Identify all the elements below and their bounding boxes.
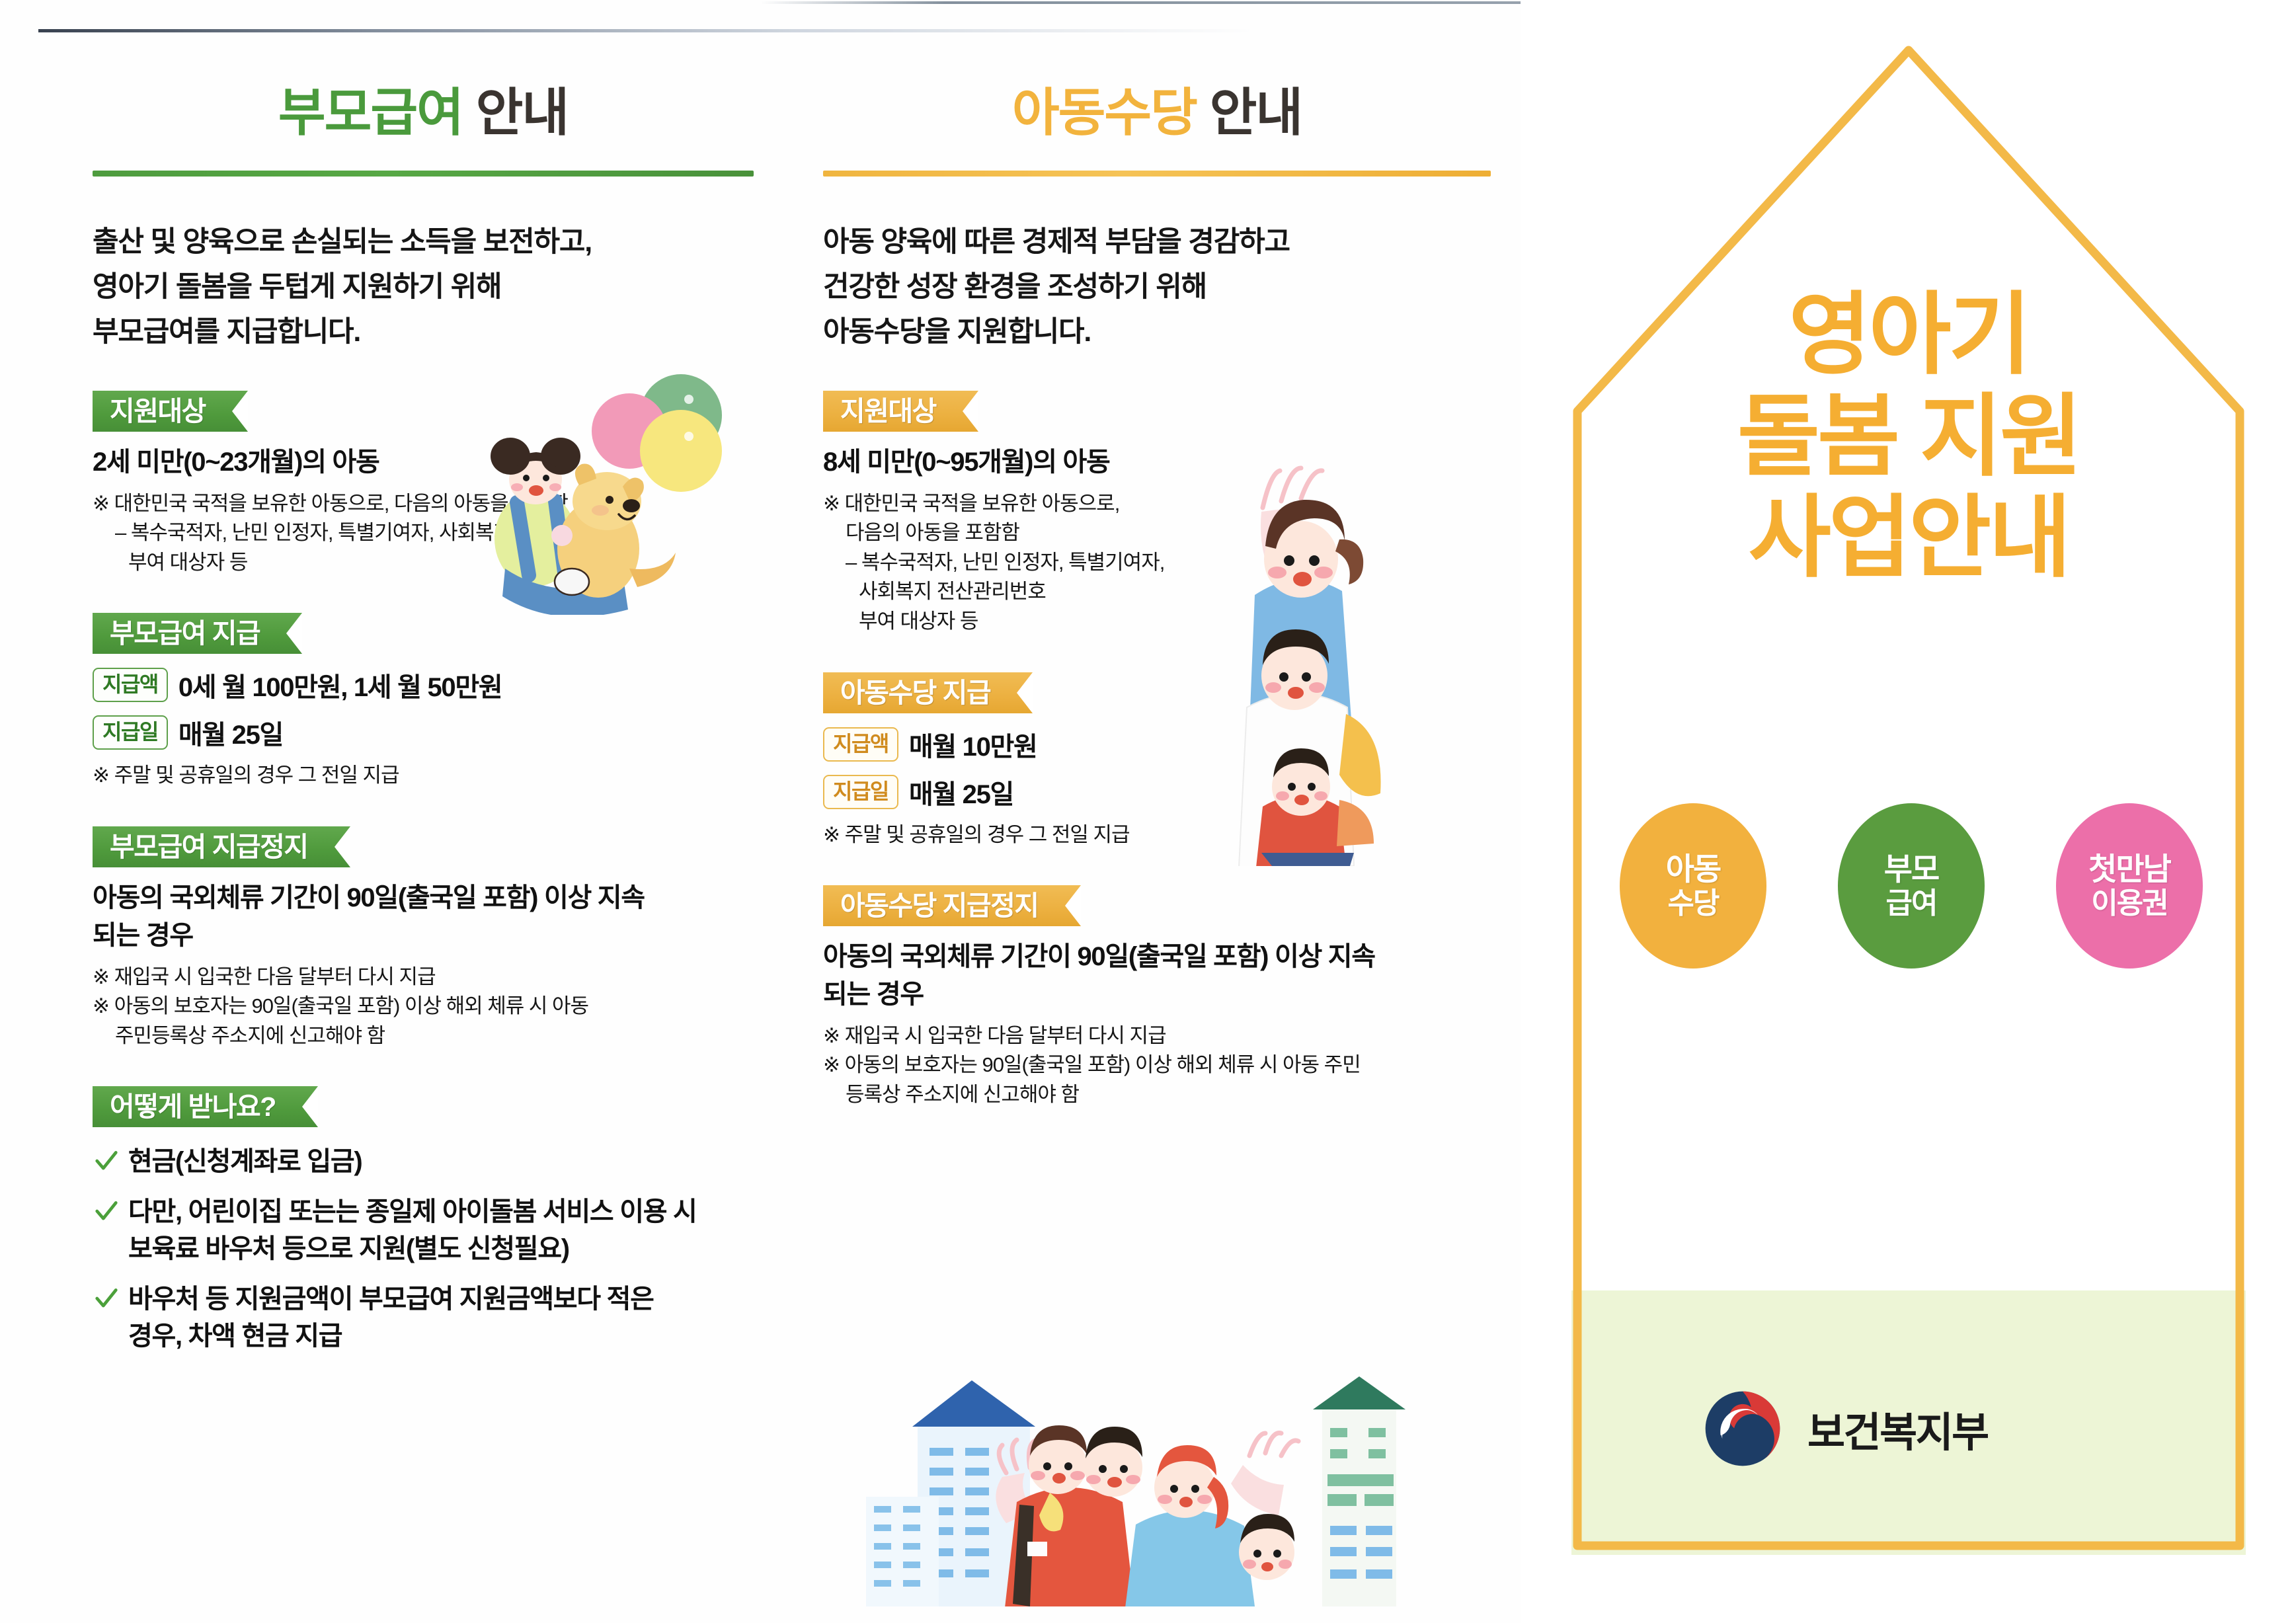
program-badge-row: 아동 수당 부모 급여 첫만남 이용권 <box>1584 803 2238 969</box>
check-icon <box>94 1148 119 1173</box>
mid-intro-line-1: 아동 양육에 따른 경제적 부담을 경감하고 <box>823 220 1491 265</box>
list-item: 현금(신청계좌로 입금) <box>93 1143 754 1180</box>
left-suspension-lead-line-2: 되는 경우 <box>93 917 754 955</box>
badge-parent-benefit: 부모 급여 <box>1838 803 1985 969</box>
left-pay-row-date: 지급일 매월 25일 <box>93 713 754 752</box>
left-banner-suspension: 부모급여 지급정지 <box>93 826 350 867</box>
left-intro-paragraph: 출산 및 양육으로 손실되는 소득을 보전하고, 영아기 돌봄을 두텁게 지원하… <box>93 220 754 355</box>
left-title-divider <box>93 171 754 177</box>
left-column-title: 부모급여 안내 <box>93 86 754 140</box>
ministry-name: 보건복지부 <box>1807 1399 1988 1458</box>
left-section-suspension: 부모급여 지급정지 아동의 국외체류 기간이 90일(출국일 포함) 이상 지속… <box>93 791 754 1050</box>
left-pay-row-amount: 지급액 0세 월 100만원, 1세 월 50만원 <box>93 666 754 704</box>
mid-value-amount: 매월 10만원 <box>909 725 1037 764</box>
mid-section-suspension: 아동수당 지급정지 아동의 국외체류 기간이 90일(출국일 포함) 이상 지속… <box>823 850 1491 1109</box>
left-intro-line-1: 출산 및 양육으로 손실되는 소득을 보전하고, <box>93 220 754 265</box>
check-line: 보육료 바우처 등으로 지원(별도 신청필요) <box>128 1230 754 1267</box>
mid-banner-suspension: 아동수당 지급정지 <box>823 885 1081 926</box>
check-icon <box>94 1286 119 1311</box>
left-suspension-note-2: ※ 아동의 보호자는 90일(출국일 포함) 이상 해외 체류 시 아동 <box>93 992 754 1021</box>
badge-line-1: 첫만남 <box>2088 852 2170 887</box>
mid-suspension-lead-line-2: 되는 경우 <box>823 976 1491 1013</box>
cover-title: 영아기 돌봄 지원 사업안내 <box>1571 284 2246 589</box>
cover-title-line-1: 영아기 <box>1571 284 2246 386</box>
left-banner-eligibility: 지원대상 <box>93 391 248 432</box>
left-tag-amount: 지급액 <box>93 668 168 702</box>
badge-line-2: 수당 <box>1668 887 1719 920</box>
mid-intro-line-2: 건강한 성장 환경을 조성하기 위해 <box>823 265 1491 310</box>
check-line: 현금(신청계좌로 입금) <box>128 1143 754 1180</box>
mid-suspension-note-1: ※ 재입국 시 입국한 다음 달부터 다시 지급 <box>823 1021 1491 1051</box>
badge-first-meeting-voucher: 첫만남 이용권 <box>2056 803 2203 969</box>
mid-suspension-lead-line-1: 아동의 국외체류 기간이 90일(출국일 포함) 이상 지속 <box>823 938 1491 976</box>
column-parent-benefit: 부모급여 안내 출산 및 양육으로 손실되는 소득을 보전하고, 영아기 돌봄을… <box>93 86 754 1368</box>
left-banner-payment: 부모급여 지급 <box>93 613 302 654</box>
house-outline-icon <box>1571 41 2246 1555</box>
mid-suspension-note-2: ※ 아동의 보호자는 90일(출국일 포함) 이상 해외 체류 시 아동 주민 <box>823 1050 1491 1080</box>
mid-title-rest: 안내 <box>1197 83 1302 141</box>
check-icon <box>94 1199 119 1224</box>
scan-edge-left <box>38 29 1255 32</box>
cover-title-line-3: 사업안내 <box>1571 487 2246 589</box>
check-line: 다만, 어린이집 또는는 종일제 아이돌봄 서비스 이용 시 <box>128 1193 754 1230</box>
left-intro-line-2: 영아기 돌봄을 두텁게 지원하기 위해 <box>93 265 754 310</box>
left-checklist: 현금(신청계좌로 입금) 다만, 어린이집 또는는 종일제 아이돌봄 서비스 이… <box>93 1143 754 1355</box>
left-suspension-lead-line-1: 아동의 국외체류 기간이 90일(출국일 포함) 이상 지속 <box>93 879 754 917</box>
family-and-buildings-illustration <box>840 1342 1421 1606</box>
mid-title-divider <box>823 171 1491 177</box>
badge-line-1: 아동 <box>1666 852 1720 887</box>
list-item: 다만, 어린이집 또는는 종일제 아이돌봄 서비스 이용 시 보육료 바우처 등… <box>93 1193 754 1267</box>
mid-suspension-note-3: 등록상 주소지에 신고해야 함 <box>823 1080 1491 1110</box>
badge-line-2: 급여 <box>1886 887 1937 920</box>
child-with-dog-and-balloons-illustration <box>456 370 773 615</box>
brochure-page: 부모급여 안내 출산 및 양육으로 손실되는 소득을 보전하고, 영아기 돌봄을… <box>0 0 2296 1623</box>
ministry-logo-block: 보건복지부 <box>1700 1386 1988 1471</box>
left-value-amount: 0세 월 100만원, 1세 월 50만원 <box>178 666 502 704</box>
left-payment-notes: ※ 주말 및 공휴일의 경우 그 전일 지급 <box>93 761 754 791</box>
mid-banner-payment: 아동수당 지급 <box>823 672 1033 713</box>
mid-suspension-lead: 아동의 국외체류 기간이 90일(출국일 포함) 이상 지속 되는 경우 <box>823 938 1491 1013</box>
left-title-rest: 안내 <box>463 83 568 141</box>
left-tag-date: 지급일 <box>93 715 168 750</box>
mid-column-title: 아동수당 안내 <box>823 86 1491 140</box>
check-line: 경우, 차액 현금 지급 <box>128 1318 754 1355</box>
badge-line-1: 부모 <box>1884 852 1938 887</box>
left-suspension-note-1: ※ 재입국 시 입국한 다음 달부터 다시 지급 <box>93 963 754 992</box>
left-payment-note-1: ※ 주말 및 공휴일의 경우 그 전일 지급 <box>93 761 754 791</box>
left-value-date: 매월 25일 <box>178 713 283 752</box>
left-suspension-notes: ※ 재입국 시 입국한 다음 달부터 다시 지급 ※ 아동의 보호자는 90일(… <box>93 963 754 1051</box>
list-item: 바우처 등 지원금액이 부모급여 지원금액보다 적은 경우, 차액 현금 지급 <box>93 1281 754 1355</box>
mid-banner-eligibility: 지원대상 <box>823 391 978 432</box>
cover-panel: 영아기 돌봄 지원 사업안내 아동 수당 부모 급여 첫만남 이용권 <box>1521 0 2296 1623</box>
mid-suspension-notes: ※ 재입국 시 입국한 다음 달부터 다시 지급 ※ 아동의 보호자는 90일(… <box>823 1021 1491 1110</box>
left-suspension-note-3: 주민등록상 주소지에 신고해야 함 <box>93 1021 754 1051</box>
left-section-how-to-receive: 어떻게 받나요? 현금(신청계좌로 입금) 다만, 어린이집 또는는 종일제 아… <box>93 1050 754 1355</box>
left-banner-how-to-receive: 어떻게 받나요? <box>93 1086 318 1127</box>
mid-tag-date: 지급일 <box>823 775 898 809</box>
left-title-accent: 부모급여 <box>278 83 463 141</box>
left-intro-line-3: 부모급여를 지급합니다. <box>93 310 754 355</box>
taegeuk-logo-icon <box>1700 1386 1785 1471</box>
badge-child-allowance: 아동 수당 <box>1620 803 1766 969</box>
mid-value-date: 매월 25일 <box>909 773 1013 811</box>
badge-line-2: 이용권 <box>2091 887 2167 920</box>
left-suspension-lead: 아동의 국외체류 기간이 90일(출국일 포함) 이상 지속 되는 경우 <box>93 879 754 955</box>
mid-title-accent: 아동수당 <box>1012 83 1197 141</box>
mid-intro-paragraph: 아동 양육에 따른 경제적 부담을 경감하고 건강한 성장 환경을 조성하기 위… <box>823 220 1491 355</box>
mid-tag-amount: 지급액 <box>823 727 898 762</box>
check-line: 바우처 등 지원금액이 부모급여 지원금액보다 적은 <box>128 1281 754 1318</box>
cover-title-line-2: 돌봄 지원 <box>1571 386 2246 488</box>
family-waving-illustration-top <box>1183 430 1481 866</box>
mid-intro-line-3: 아동수당을 지원합니다. <box>823 310 1491 355</box>
